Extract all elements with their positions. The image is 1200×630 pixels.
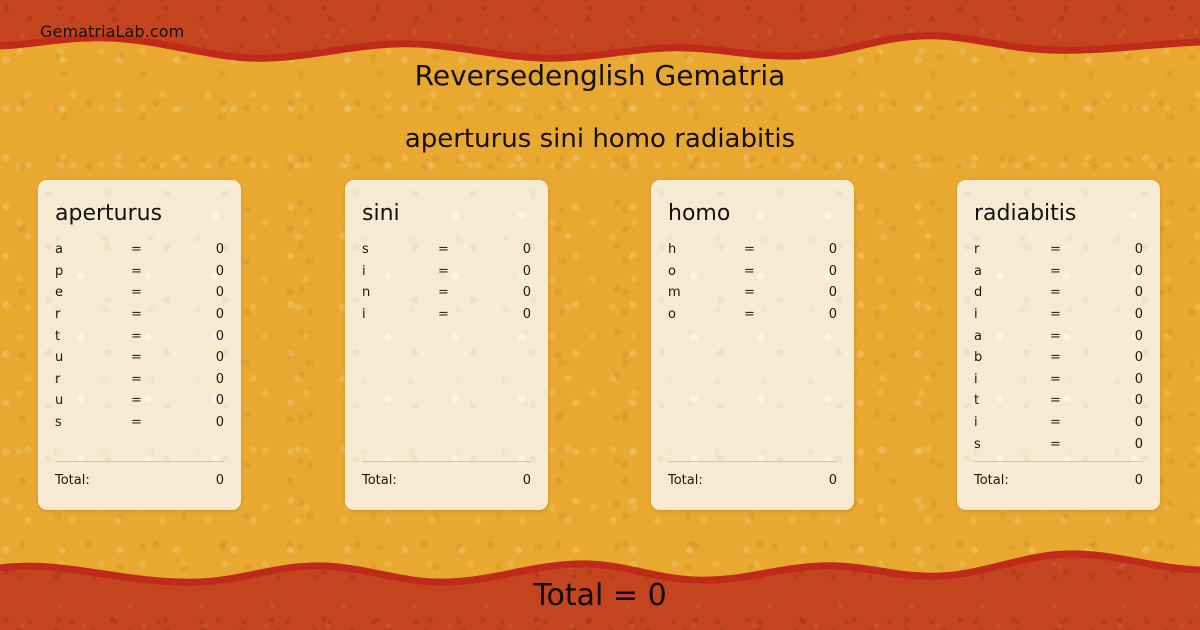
card-total-value: 0 [216,473,224,488]
letter-value-cell: 0 [478,285,531,300]
letter-value-cell: 0 [171,329,224,344]
letter-cell: i [974,307,1050,322]
letter-row: u=0 [55,393,224,415]
equals-sign: = [744,285,784,300]
letter-cell: o [668,307,744,322]
letter-cell: a [974,264,1050,279]
word-card: aperturusa=0p=0e=0r=0t=0u=0r=0u=0s=0Tota… [38,180,241,510]
letter-cell: i [974,415,1050,430]
letter-row-list: s=0i=0n=0i=0 [362,242,531,328]
letter-row: o=0 [668,264,837,286]
letter-cell: p [55,264,131,279]
equals-sign: = [438,264,478,279]
equals-sign: = [1050,415,1090,430]
letter-value-cell: 0 [171,350,224,365]
letter-value-cell: 0 [478,264,531,279]
card-total-value: 0 [829,473,837,488]
card-divider [974,461,1143,462]
page-subtitle: aperturus sini homo radiabitis [0,124,1200,154]
letter-cell: e [55,285,131,300]
equals-sign: = [1050,307,1090,322]
equals-sign: = [744,307,784,322]
letter-row: a=0 [974,329,1143,351]
letter-cell: a [974,329,1050,344]
letter-cell: h [668,242,744,257]
letter-row: s=0 [362,242,531,264]
letter-value-cell: 0 [1090,307,1143,322]
letter-cell: r [55,372,131,387]
word-card: homoh=0o=0m=0o=0Total:0 [651,180,854,510]
letter-cell: a [55,242,131,257]
equals-sign: = [1050,329,1090,344]
letter-value-cell: 0 [1090,242,1143,257]
word-card-title: homo [668,202,837,226]
card-divider [668,461,837,462]
card-total-row: Total:0 [362,473,531,488]
letter-row: i=0 [974,307,1143,329]
letter-row: a=0 [974,264,1143,286]
letter-value-cell: 0 [784,285,837,300]
letter-row: u=0 [55,350,224,372]
letter-value-cell: 0 [1090,264,1143,279]
letter-cell: t [55,329,131,344]
letter-row: i=0 [362,264,531,286]
word-card: radiabitisr=0a=0d=0i=0a=0b=0i=0t=0i=0s=0… [957,180,1160,510]
card-total-row: Total:0 [55,473,224,488]
letter-value-cell: 0 [171,393,224,408]
equals-sign: = [131,393,171,408]
card-total-label: Total: [362,473,523,488]
letter-value-cell: 0 [784,242,837,257]
letter-value-cell: 0 [1090,329,1143,344]
equals-sign: = [1050,242,1090,257]
letter-value-cell: 0 [1090,285,1143,300]
letter-value-cell: 0 [171,264,224,279]
letter-value-cell: 0 [171,307,224,322]
letter-row-list: r=0a=0d=0i=0a=0b=0i=0t=0i=0s=0 [974,242,1143,458]
equals-sign: = [1050,437,1090,452]
word-card-footer: Total:0 [362,461,531,488]
equals-sign: = [131,264,171,279]
equals-sign: = [1050,285,1090,300]
card-total-row: Total:0 [668,473,837,488]
letter-value-cell: 0 [1090,350,1143,365]
letter-cell: n [362,285,438,300]
letter-value-cell: 0 [171,285,224,300]
letter-row: i=0 [362,307,531,329]
grand-total: Total = 0 [0,578,1200,613]
equals-sign: = [131,242,171,257]
letter-cell: r [55,307,131,322]
letter-row: t=0 [974,393,1143,415]
equals-sign: = [1050,264,1090,279]
letter-row: i=0 [974,372,1143,394]
letter-row: o=0 [668,307,837,329]
word-card-footer: Total:0 [974,461,1143,488]
letter-value-cell: 0 [1090,372,1143,387]
equals-sign: = [744,242,784,257]
letter-cell: t [974,393,1050,408]
equals-sign: = [438,307,478,322]
letter-cell: i [974,372,1050,387]
card-total-value: 0 [523,473,531,488]
letter-value-cell: 0 [784,307,837,322]
letter-value-cell: 0 [478,307,531,322]
word-card: sinis=0i=0n=0i=0Total:0 [345,180,548,510]
equals-sign: = [744,264,784,279]
word-card-list: aperturusa=0p=0e=0r=0t=0u=0r=0u=0s=0Tota… [0,180,1200,512]
letter-cell: i [362,307,438,322]
site-logo[interactable]: GematriaLab.com [40,22,184,41]
card-divider [362,461,531,462]
letter-row: a=0 [55,242,224,264]
equals-sign: = [131,329,171,344]
equals-sign: = [438,285,478,300]
letter-value-cell: 0 [1090,415,1143,430]
letter-cell: u [55,393,131,408]
equals-sign: = [1050,372,1090,387]
letter-cell: i [362,264,438,279]
letter-cell: b [974,350,1050,365]
letter-row: s=0 [55,415,224,437]
equals-sign: = [1050,350,1090,365]
letter-cell: s [55,415,131,430]
word-card-footer: Total:0 [55,461,224,488]
letter-value-cell: 0 [171,415,224,430]
equals-sign: = [131,307,171,322]
letter-row: i=0 [974,415,1143,437]
card-total-value: 0 [1135,473,1143,488]
letter-row-list: h=0o=0m=0o=0 [668,242,837,328]
letter-row: m=0 [668,285,837,307]
poster-canvas: GematriaLab.com Reversedenglish Gematria… [0,0,1200,630]
card-total-row: Total:0 [974,473,1143,488]
equals-sign: = [131,350,171,365]
word-card-footer: Total:0 [668,461,837,488]
card-total-label: Total: [668,473,829,488]
equals-sign: = [1050,393,1090,408]
word-card-title: aperturus [55,202,224,226]
letter-value-cell: 0 [478,242,531,257]
letter-value-cell: 0 [784,264,837,279]
word-card-title: radiabitis [974,202,1143,226]
word-card-title: sini [362,202,531,226]
card-divider [55,461,224,462]
letter-row: d=0 [974,285,1143,307]
letter-row: r=0 [974,242,1143,264]
letter-row: s=0 [974,437,1143,459]
letter-cell: o [668,264,744,279]
letter-row: p=0 [55,264,224,286]
letter-cell: s [974,437,1050,452]
card-total-label: Total: [974,473,1135,488]
equals-sign: = [131,415,171,430]
letter-row: b=0 [974,350,1143,372]
letter-row: n=0 [362,285,531,307]
card-total-label: Total: [55,473,216,488]
letter-value-cell: 0 [1090,393,1143,408]
equals-sign: = [131,285,171,300]
letter-cell: d [974,285,1050,300]
letter-cell: m [668,285,744,300]
letter-row: r=0 [55,307,224,329]
letter-value-cell: 0 [1090,437,1143,452]
equals-sign: = [438,242,478,257]
letter-cell: r [974,242,1050,257]
letter-row: t=0 [55,329,224,351]
letter-row: r=0 [55,372,224,394]
letter-value-cell: 0 [171,242,224,257]
letter-cell: s [362,242,438,257]
letter-cell: u [55,350,131,365]
letter-value-cell: 0 [171,372,224,387]
letter-row-list: a=0p=0e=0r=0t=0u=0r=0u=0s=0 [55,242,224,436]
letter-row: e=0 [55,285,224,307]
equals-sign: = [131,372,171,387]
letter-row: h=0 [668,242,837,264]
page-title: Reversedenglish Gematria [0,59,1200,92]
